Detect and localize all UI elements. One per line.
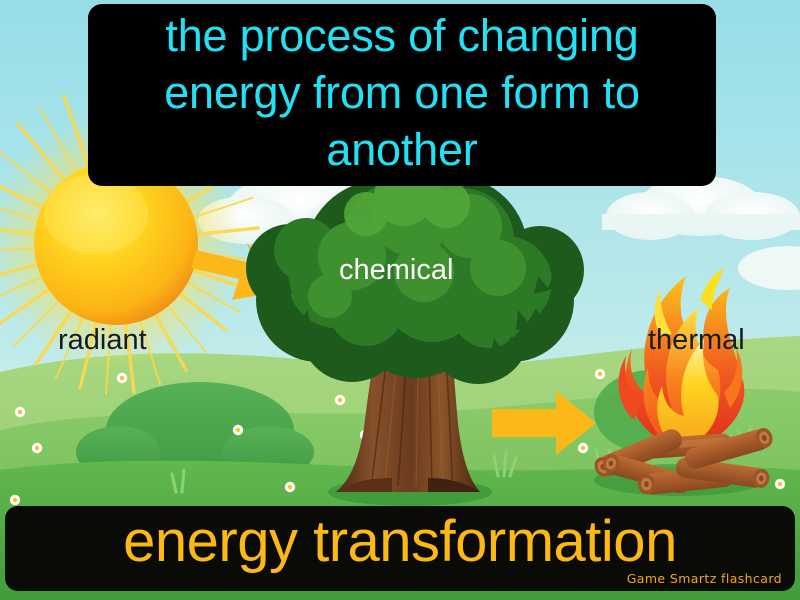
chemical-energy-label: chemical <box>339 253 453 287</box>
term-banner: energy transformation Game Smartz flashc… <box>5 506 795 591</box>
term-text: energy transformation <box>5 507 795 577</box>
thermal-energy-label: thermal <box>648 323 745 357</box>
flashcard: radiant chemical thermal the process of … <box>0 0 800 600</box>
definition-panel: the process of changing energy from one … <box>88 4 716 186</box>
radiant-energy-label: radiant <box>58 323 147 357</box>
definition-text: the process of changing energy from one … <box>100 7 704 178</box>
watermark-label: Game Smartz flashcard <box>627 571 782 586</box>
